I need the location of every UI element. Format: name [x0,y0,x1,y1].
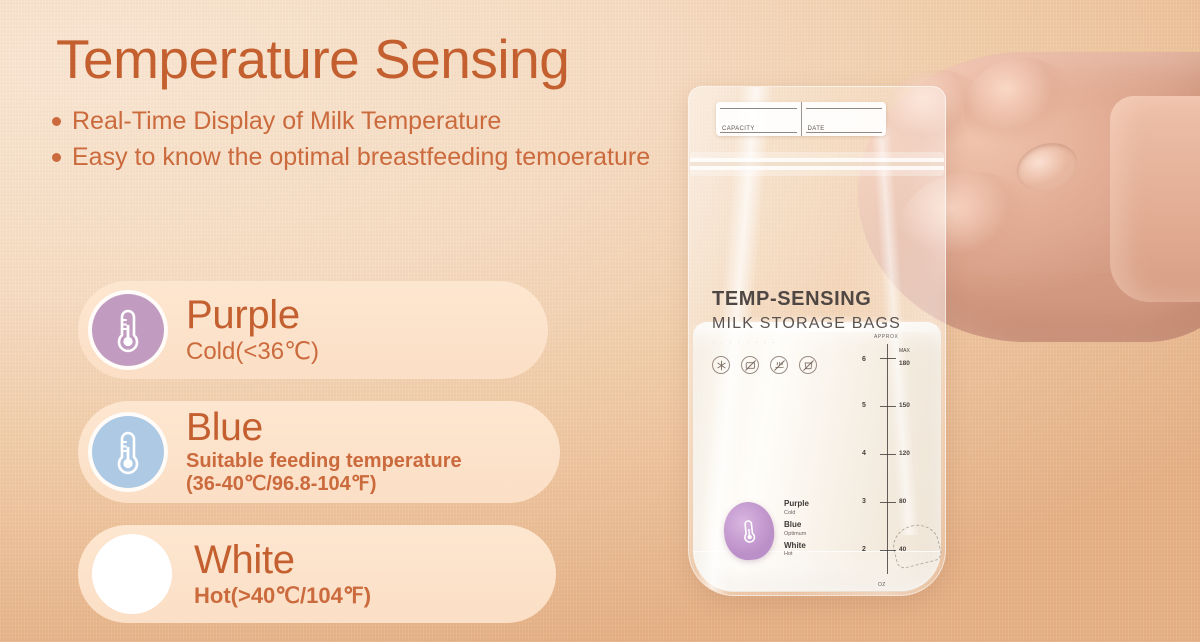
date-field: DATE [802,102,887,136]
indicator-legend: Purple Cold Blue Optimum White Hot [784,500,864,563]
thermometer-icon [111,429,145,475]
scale-approx-label: APPROX [874,334,898,340]
list-item: Real-Time Display of Milk Temperature [52,105,652,138]
scale-oz-label: 4 [862,450,866,457]
indicator-desc: Cold [784,510,864,516]
scale-tick [880,358,896,359]
brand-subtitle: MILK STORAGE BAGS [712,315,922,333]
list-item: Easy to know the optimal breastfeeding t… [52,141,652,174]
swatch-purple [92,294,164,366]
indicator-desc: Optimum [784,531,864,537]
legend-card-text: Purple Cold(<36℃) [186,295,319,366]
no-reuse-icon [799,356,817,374]
zipper-seal [690,152,944,176]
indicator-legend-row: Blue Optimum [784,521,864,537]
indicator-name: White [784,542,864,551]
thermometer-icon [111,307,145,353]
legend-title: Blue [186,408,462,447]
scale-ml-label: 120 [899,450,910,457]
legend-subtitle: Hot(>40℃/104℉) [194,583,371,609]
scale-tick [880,502,896,503]
legend-title: White [194,540,371,580]
write-on-label: CAPACITY DATE [716,102,886,136]
product-photo: CAPACITY DATE TEMP-SENSING MILK STORAGE … [640,0,1200,642]
poster-root: Temperature Sensing Real-Time Display of… [0,0,1200,642]
legend-title: Purple [186,295,319,335]
scale-ml-label: 180 [899,360,910,367]
legend-card-blue: Blue Suitable feeding temperature (36-40… [78,401,560,503]
scale-ml-label: 150 [899,402,910,409]
legend-card-text: Blue Suitable feeding temperature (36-40… [186,408,462,496]
bullet-text: Real-Time Display of Milk Temperature [72,105,652,138]
swatch-blue [92,416,164,488]
care-badges [712,356,817,374]
scale-tick [880,454,896,455]
brand-name: TEMP-SENSING [712,288,922,311]
scale-tick [880,550,896,551]
bullet-dot-icon [52,117,61,126]
indicator-name: Purple [784,500,864,509]
legend-subtitle: Suitable feeding temperature (36-40℃/96.… [186,450,462,496]
scale-oz-label: 6 [862,356,866,363]
temperature-legend: Purple Cold(<36℃) Blue Suitable feeding … [78,281,560,642]
legend-card-text: White Hot(>40℃/104℉) [194,540,371,609]
swatch-white [92,534,172,614]
legend-card-white: White Hot(>40℃/104℉) [78,525,556,623]
bullet-text: Easy to know the optimal breastfeeding t… [72,141,652,174]
page-title: Temperature Sensing [56,30,569,89]
bullet-list: Real-Time Display of Milk Temperature Ea… [52,105,652,176]
bullet-dot-icon [52,153,61,162]
thumb-nail [1010,136,1083,199]
scale-max-label: MAX [899,348,910,354]
scale-oz-label: 5 [862,402,866,409]
scale-unit-label: OZ [878,582,886,588]
legend-card-purple: Purple Cold(<36℃) [78,281,548,379]
capacity-field: CAPACITY [716,102,802,136]
indicator-legend-row: White Hot [784,542,864,558]
legend-subtitle: Cold(<36℃) [186,338,319,366]
indicator-legend-row: Purple Cold [784,500,864,516]
milk-storage-bag: CAPACITY DATE TEMP-SENSING MILK STORAGE … [688,86,946,596]
scale-ml-label: 80 [899,498,906,505]
thermometer-icon [738,515,759,547]
no-microwave-icon [741,356,759,374]
wrist [1110,96,1200,302]
scale-ml-label: 40 [899,546,906,553]
volume-scale: APPROX MAX 180 6 150 5 120 4 80 3 40 2 O… [860,344,922,574]
no-boiling-icon [770,356,788,374]
indicator-desc: Hot [784,551,864,557]
snowflake-icon [712,356,730,374]
scale-axis [887,344,888,574]
scale-tick [880,406,896,407]
indicator-name: Blue [784,521,864,530]
